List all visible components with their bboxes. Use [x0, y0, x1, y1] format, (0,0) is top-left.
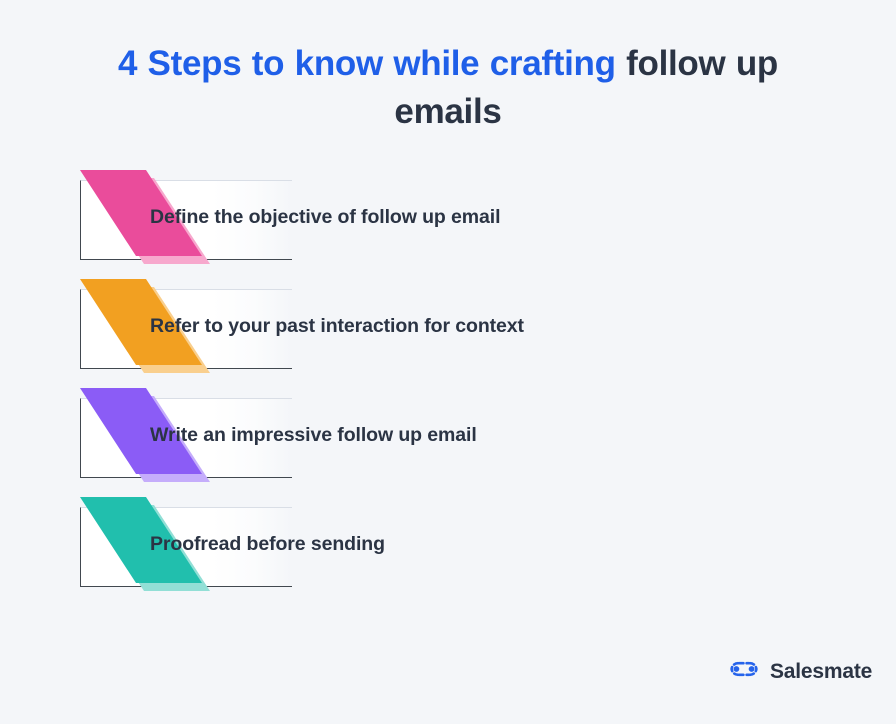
step-number: 04 — [88, 553, 110, 575]
chain-link-icon — [727, 659, 761, 684]
step-label: Define the objective of follow up email — [150, 206, 500, 229]
steps-list: 01 Define the objective of follow up ema… — [0, 168, 896, 604]
brand-name: Salesmate — [770, 660, 872, 684]
page-title: 4 Steps to know while crafting follow up… — [108, 40, 788, 136]
step-item: 03 Write an impressive follow up email — [0, 386, 896, 478]
step-label: Proofread before sending — [150, 533, 385, 556]
step-number: 02 — [88, 335, 110, 357]
step-number: 03 — [88, 444, 110, 466]
step-label: Refer to your past interaction for conte… — [150, 315, 524, 338]
brand-logo: Salesmate — [727, 659, 872, 684]
step-item: 02 Refer to your past interaction for co… — [0, 277, 896, 369]
page-title-highlight: 4 Steps to know while crafting — [118, 44, 616, 83]
page-title-block: 4 Steps to know while crafting follow up… — [108, 40, 788, 136]
step-label: Write an impressive follow up email — [150, 424, 477, 447]
step-item: 01 Define the objective of follow up ema… — [0, 168, 896, 260]
step-item: 04 Proofread before sending — [0, 495, 896, 587]
step-number: 01 — [88, 226, 110, 248]
